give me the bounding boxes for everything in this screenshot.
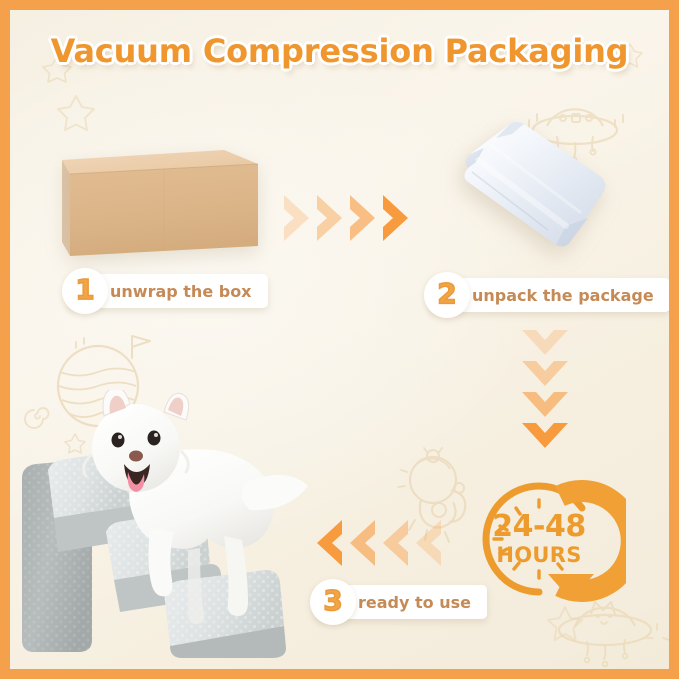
chevron-down-icon — [520, 328, 570, 359]
star-outline-doodle — [54, 90, 98, 134]
step-2-label: unpack the package — [472, 286, 654, 305]
chevron-right-icon — [348, 193, 379, 243]
chevron-left-icon — [313, 518, 344, 568]
chevrons-right-group — [282, 193, 412, 243]
step-1-number-badge: 1 — [62, 268, 108, 314]
chevron-left-icon — [379, 518, 410, 568]
star-outline-doodle — [544, 602, 586, 644]
infographic-canvas: Vacuum Compression Packaging — [0, 0, 679, 679]
step-3-number: 3 — [323, 587, 342, 617]
step-3-pill: 3 ready to use — [316, 585, 487, 619]
chevron-down-icon — [520, 359, 570, 390]
chevron-left-icon — [412, 518, 443, 568]
step-1-pill: 1 unwrap the box — [68, 274, 268, 308]
step-3-number-badge: 3 — [310, 579, 356, 625]
chevron-left-icon — [346, 518, 377, 568]
step-1-label: unwrap the box — [110, 282, 252, 301]
chevrons-left-group — [313, 518, 443, 568]
step-2-number-badge: 2 — [424, 272, 470, 318]
step-2-number: 2 — [437, 280, 456, 310]
infographic-inner-background: Vacuum Compression Packaging — [10, 10, 669, 669]
vacuum-sealed-package-photo — [448, 114, 628, 264]
chevron-right-icon — [282, 193, 313, 243]
chevron-down-icon — [520, 421, 570, 452]
step-3-label: ready to use — [358, 593, 471, 612]
chevron-right-icon — [381, 193, 412, 243]
chevron-right-icon — [315, 193, 346, 243]
step-1-number: 1 — [75, 276, 94, 306]
chevrons-down-group — [520, 328, 570, 452]
timer-badge: 24-48 HOURS — [478, 478, 626, 606]
step-2-pill: 2 unpack the package — [430, 278, 669, 312]
page-title: Vacuum Compression Packaging — [10, 32, 669, 70]
clock-circular-arrow-icon — [478, 478, 626, 606]
dog-on-pet-stairs-photo — [18, 390, 318, 660]
chevron-down-icon — [520, 390, 570, 421]
cardboard-box-photo — [54, 138, 258, 258]
